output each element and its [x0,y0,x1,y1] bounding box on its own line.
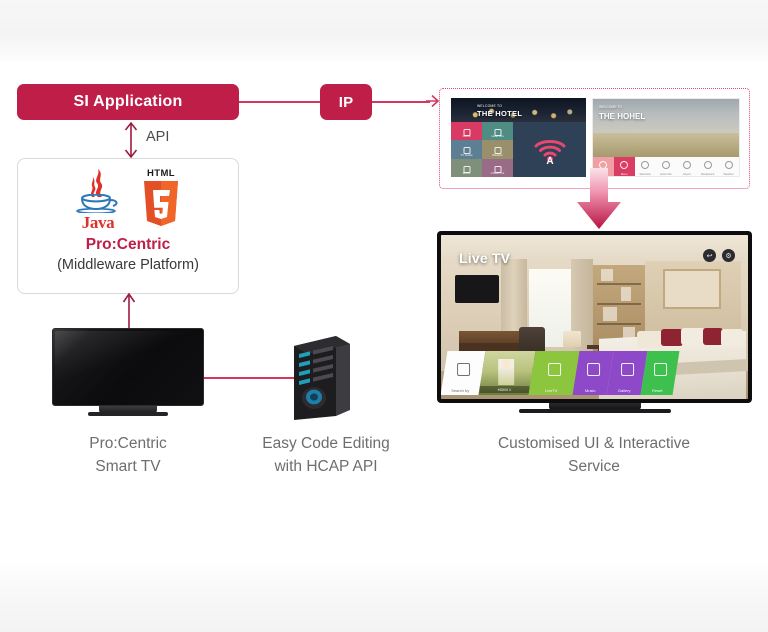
portal-tile-label: TV Guide [451,153,482,157]
live-tv-overlay-label: Live TV [459,250,510,266]
app-bar-item[interactable]: Hotel Info [656,157,677,177]
app-bar-item[interactable]: Weather [718,157,739,177]
tv-hud-buttons: ↩ ⚙ [703,249,735,262]
tv-screen [52,328,204,406]
hero-ground [593,133,739,157]
middleware-title: Pro:Centric [86,236,170,254]
back-icon[interactable]: ↩ [703,249,716,262]
top-background-band [0,0,768,62]
app-bar-label: Restaurant [697,173,718,176]
app-card[interactable]: LiveTV [529,351,580,395]
double-arrow-vertical-icon [120,120,142,160]
app-glyph-icon [683,161,691,169]
connector-tv-to-pc [200,377,300,379]
html5-shield-icon [141,180,181,227]
caption-customised-ui: Customised UI & Interactive Service [458,432,730,478]
portal-tile-label: Hotel Info [482,134,513,138]
bottom-background-band [0,560,768,632]
app-bar-item[interactable]: Television [635,157,656,177]
room-pillow [681,328,705,345]
portal-tile[interactable]: Music [451,159,482,177]
portal-tile[interactable]: TV Guide [451,140,482,158]
room-lamp [563,331,581,347]
tv-foot [519,409,671,413]
music-note-icon [587,363,600,376]
app-card-label: Reset [641,388,673,393]
connector-ip-to-preview [372,101,430,103]
wifi-icon: A [533,132,567,166]
search-icon [457,363,470,376]
room-pillow [661,329,683,346]
portal-tile-label: Weather [482,153,513,157]
slide-canvas: SI Application IP API [0,0,768,632]
portal-tile[interactable]: Hotel Info [482,122,513,140]
portal-tile[interactable]: Home [451,122,482,140]
app-card-label: LiveTV [529,388,573,393]
portal-tile[interactable]: Check Out [482,159,513,177]
hotel-welcome-screen-preview: WELCOME TO THE HOHEL Home Menu Televisio… [592,98,740,177]
portal-screen-preview: WELCOME TO THE HOTEL Home Hotel Info [451,98,586,177]
thumbnail-image [498,359,514,385]
portal-tile-grid: Home Hotel Info TV Guide Weather [451,122,513,177]
html5-logo: HTML [138,168,184,230]
middleware-subtitle: (Middleware Platform) [57,257,199,273]
tv-foot [88,412,168,416]
antenna-icon [548,363,561,376]
room-wall-tv [455,275,499,303]
hotel-room-tv: Live TV ↩ ⚙ Search by HDMI 1 [437,231,752,416]
app-glyph-icon [704,161,712,169]
app-bar-label: Hotel Info [656,173,677,176]
room-pillow [703,328,723,345]
app-bar-item[interactable]: Restaurant [697,157,718,177]
portal-tile-label: Music [451,171,482,175]
caption-easy-code-editing: Easy Code Editing with HCAP API [240,432,412,478]
app-glyph-icon [662,161,670,169]
app-card-label: Gallery [607,388,641,393]
room-wall-art [663,269,721,309]
portal-tile[interactable]: Weather [482,140,513,158]
caption-line: Easy Code Editing [240,432,412,455]
portal-hero-banner: WELCOME TO THE HOTEL [451,98,586,122]
app-bar-label: Weather [718,173,739,176]
tv-bezel: Live TV ↩ ⚙ Search by HDMI 1 [437,231,752,403]
app-glyph-icon [641,161,649,169]
svg-text:A: A [546,156,553,166]
television-icon [52,328,204,416]
app-card-label: Search by [441,388,479,393]
api-label: API [146,129,169,145]
app-bar-label: Airport [676,173,697,176]
middleware-platform-card: Java HTML Pro:Centric (Middleware Platfo… [17,158,239,294]
welcome-hero-text: WELCOME TO THE HOHEL [599,103,645,121]
app-bar-item[interactable]: Airport [676,157,697,177]
portal-body: Home Hotel Info TV Guide Weather [451,122,586,177]
caption-line: Service [458,455,730,478]
caption-line: with HCAP API [240,455,412,478]
java-logo: Java [72,168,124,230]
room-pillow [637,331,663,348]
java-wordmark: Java [72,215,124,230]
welcome-kicker: WELCOME TO [599,103,645,112]
portal-tile-label: Home [451,134,482,138]
room-pillow [721,329,743,346]
ip-box: IP [320,84,372,120]
app-bar-label: Television [635,173,656,176]
app-card-label: HDMI 1 [479,386,529,393]
caption-procentric-smart-tv: Pro:Centric Smart TV [48,432,208,478]
caption-line: Pro:Centric [48,432,208,455]
connector-si-to-ip [239,101,320,103]
app-card-label: Music [573,388,607,393]
photo-icon [621,363,634,376]
si-application-box: SI Application [17,84,239,120]
app-card[interactable]: HDMI 1 [479,351,536,395]
portal-tile-label: Check Out [482,171,513,175]
welcome-hero: WELCOME TO THE HOHEL [593,99,739,157]
portal-hero-text: WELCOME TO THE HOTEL [477,102,522,118]
app-glyph-icon [725,161,733,169]
technology-logos: Java HTML [72,168,184,230]
caption-line: Smart TV [48,455,208,478]
java-cup-icon [75,194,121,213]
welcome-title: THE HOHEL [599,112,645,121]
caption-line: Customised UI & Interactive [458,432,730,455]
desktop-tower-icon [288,332,354,420]
arrow-down-icon [575,168,623,230]
html5-wordmark: HTML [138,168,184,179]
refresh-icon [654,363,667,376]
gear-icon[interactable]: ⚙ [722,249,735,262]
tv-screen-content: Live TV ↩ ⚙ Search by HDMI 1 [441,235,748,399]
tv-app-strip: Search by HDMI 1 LiveTV Music [441,351,679,395]
portal-hero-title: THE HOTEL [477,109,522,118]
